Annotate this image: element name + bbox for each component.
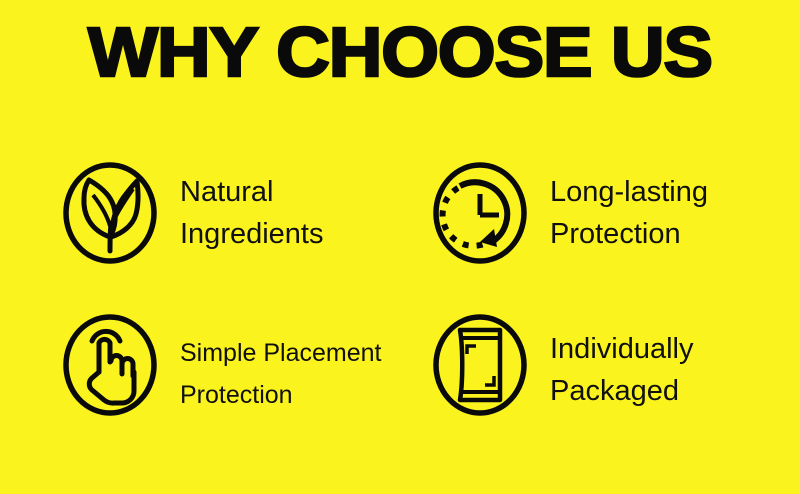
leaf-circle-icon — [58, 158, 162, 268]
sachet-packet-circle-icon — [428, 310, 532, 420]
feature-item-individually-packaged: Individually Packaged — [428, 308, 758, 448]
feature-label-natural-ingredients: Natural Ingredients — [180, 171, 324, 255]
feature-label-long-lasting-protection: Long-lasting Protection — [550, 171, 708, 255]
page-title: WHY CHOOSE US — [0, 14, 800, 90]
feature-label-simple-placement-protection: Simple Placement Protection — [180, 332, 381, 416]
feature-item-natural-ingredients: Natural Ingredients — [58, 118, 428, 308]
feature-item-long-lasting-protection: Long-lasting Protection — [428, 118, 758, 308]
why-choose-us-poster: WHY CHOOSE US Natural Ingredients — [0, 0, 800, 494]
tap-hand-circle-icon — [58, 310, 162, 420]
clock-arrow-circle-icon — [428, 158, 532, 268]
feature-grid: Natural Ingredients Long-lasting Pro — [58, 118, 758, 448]
feature-label-individually-packaged: Individually Packaged — [550, 328, 693, 412]
feature-item-simple-placement-protection: Simple Placement Protection — [58, 308, 428, 448]
